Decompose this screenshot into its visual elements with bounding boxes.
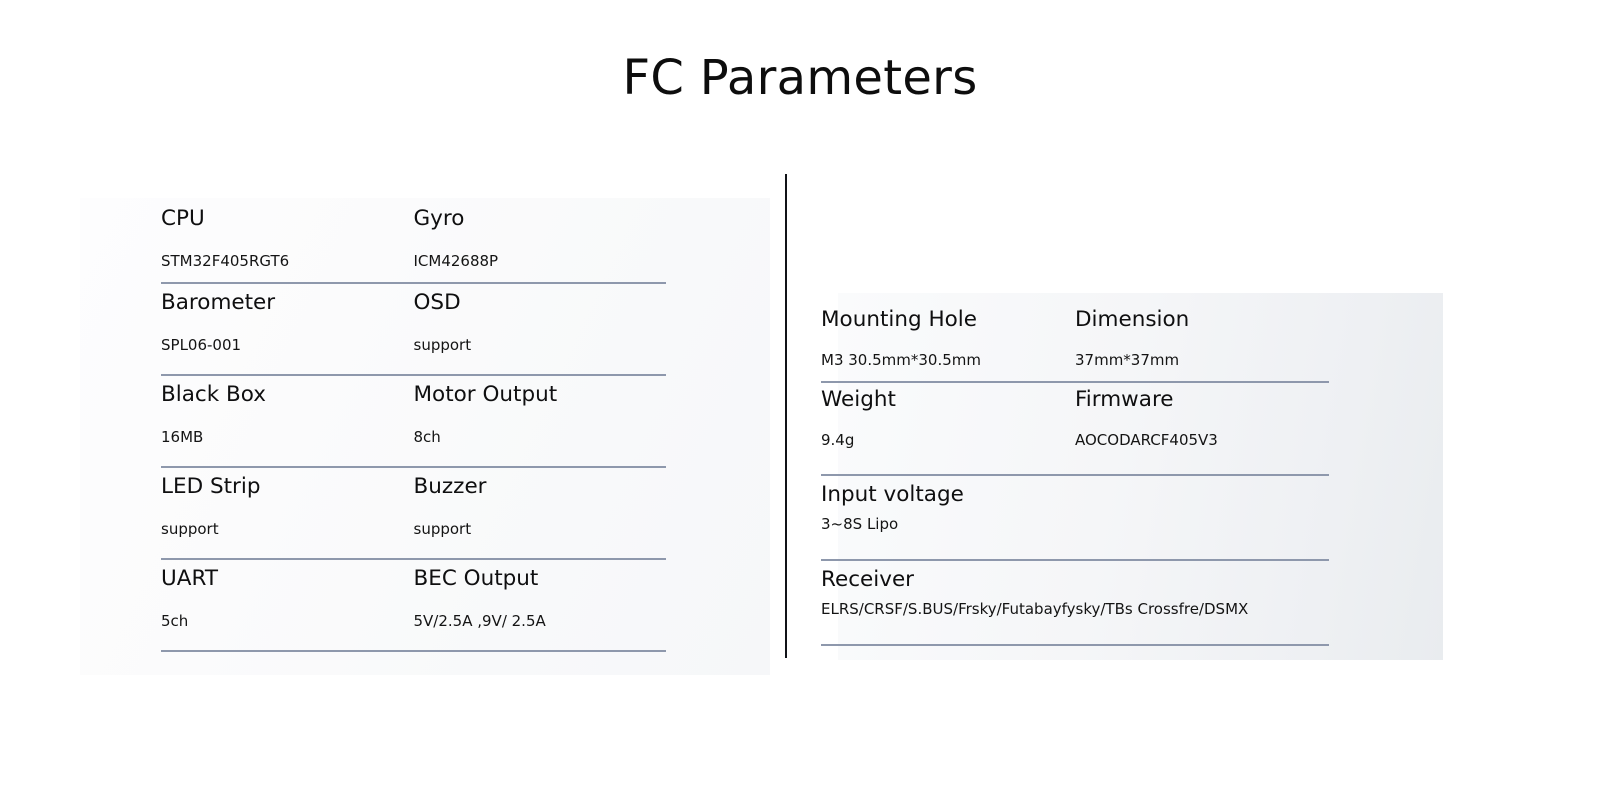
spec-label: BEC Output [414, 560, 667, 592]
left-spec-table: CPU STM32F405RGT6 Gyro ICM42688P Baromet… [161, 200, 666, 652]
spec-value: 8ch [414, 408, 667, 458]
table-row: Barometer SPL06-001 OSD support [161, 284, 666, 376]
spec-cell: Weight 9.4g [821, 383, 1075, 460]
spec-cell: Motor Output 8ch [414, 376, 667, 458]
spec-cell: Dimension 37mm*37mm [1075, 303, 1329, 380]
spec-label: Buzzer [414, 468, 667, 500]
spec-label: Gyro [414, 200, 667, 232]
spec-value: ELRS/CRSF/S.BUS/Frsky/Futabayfysky/TBs C… [821, 593, 1329, 629]
table-row: Weight 9.4g Firmware AOCODARCF405V3 [821, 383, 1329, 476]
spec-label: Receiver [821, 561, 1329, 593]
spec-label: UART [161, 560, 414, 592]
spec-label: Barometer [161, 284, 414, 316]
spec-value: 3~8S Lipo [821, 508, 1329, 544]
spec-value: support [161, 500, 414, 550]
page-title: FC Parameters [0, 52, 1600, 105]
spec-cell: Black Box 16MB [161, 376, 414, 458]
table-row: Input voltage 3~8S Lipo [821, 476, 1329, 561]
table-row: Receiver ELRS/CRSF/S.BUS/Frsky/Futabayfy… [821, 561, 1329, 646]
table-row: Black Box 16MB Motor Output 8ch [161, 376, 666, 468]
spec-value: STM32F405RGT6 [161, 232, 414, 282]
spec-value: support [414, 500, 667, 550]
vertical-divider [785, 174, 787, 658]
spec-label: Mounting Hole [821, 303, 1075, 333]
spec-value: ICM42688P [414, 232, 667, 282]
spec-label: LED Strip [161, 468, 414, 500]
spec-value: 37mm*37mm [1075, 333, 1329, 380]
spec-label: Motor Output [414, 376, 667, 408]
spec-cell: Firmware AOCODARCF405V3 [1075, 383, 1329, 460]
spec-cell: Barometer SPL06-001 [161, 284, 414, 366]
spec-value: 9.4g [821, 413, 1075, 460]
spec-cell: Mounting Hole M3 30.5mm*30.5mm [821, 303, 1075, 380]
spec-cell: Buzzer support [414, 468, 667, 550]
spec-cell: CPU STM32F405RGT6 [161, 200, 414, 282]
spec-label: OSD [414, 284, 667, 316]
spec-label: Input voltage [821, 476, 1329, 508]
table-row: LED Strip support Buzzer support [161, 468, 666, 560]
spec-value: 5ch [161, 592, 414, 642]
spec-cell: Input voltage 3~8S Lipo [821, 476, 1329, 544]
spec-cell: LED Strip support [161, 468, 414, 550]
table-row: CPU STM32F405RGT6 Gyro ICM42688P [161, 200, 666, 284]
spec-label: Firmware [1075, 383, 1329, 413]
spec-label: CPU [161, 200, 414, 232]
spec-cell: UART 5ch [161, 560, 414, 642]
spec-value: AOCODARCF405V3 [1075, 413, 1329, 460]
spec-label: Black Box [161, 376, 414, 408]
spec-cell: OSD support [414, 284, 667, 366]
spec-value: M3 30.5mm*30.5mm [821, 333, 1075, 380]
table-row: UART 5ch BEC Output 5V/2.5A ,9V/ 2.5A [161, 560, 666, 652]
spec-cell: Gyro ICM42688P [414, 200, 667, 282]
spec-cell: Receiver ELRS/CRSF/S.BUS/Frsky/Futabayfy… [821, 561, 1329, 629]
right-spec-table: Mounting Hole M3 30.5mm*30.5mm Dimension… [821, 303, 1329, 646]
spec-label: Weight [821, 383, 1075, 413]
spec-cell: BEC Output 5V/2.5A ,9V/ 2.5A [414, 560, 667, 642]
spec-value: 5V/2.5A ,9V/ 2.5A [414, 592, 667, 642]
spec-value: 16MB [161, 408, 414, 458]
spec-value: SPL06-001 [161, 316, 414, 366]
spec-value: support [414, 316, 667, 366]
table-row: Mounting Hole M3 30.5mm*30.5mm Dimension… [821, 303, 1329, 383]
fc-parameters-page: FC Parameters CPU STM32F405RGT6 Gyro ICM… [0, 0, 1600, 800]
spec-label: Dimension [1075, 303, 1329, 333]
